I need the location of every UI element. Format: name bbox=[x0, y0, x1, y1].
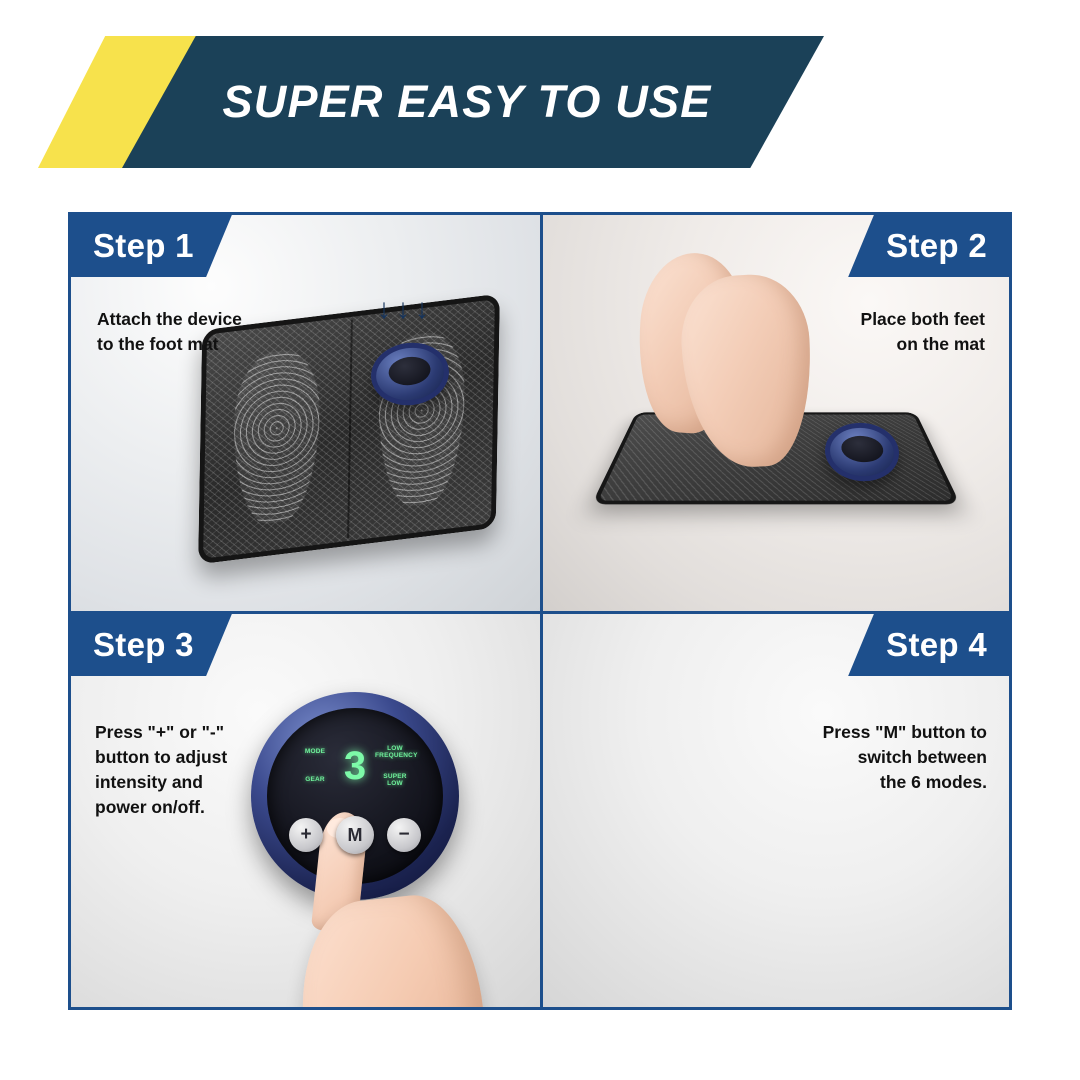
minus-button-3[interactable]: − bbox=[387, 818, 421, 852]
step-caption-2-line1: Place both feet bbox=[861, 307, 985, 332]
foot-print-left bbox=[232, 346, 320, 528]
display-value-3: 3 bbox=[335, 746, 375, 786]
display-label-low-frequency: LOW FREQUENCY bbox=[375, 745, 415, 760]
step-caption-1: Attach the device to the foot mat bbox=[97, 307, 242, 357]
display-label-gear: GEAR bbox=[295, 776, 335, 783]
display-label-super-low: SUPER LOW bbox=[375, 773, 415, 788]
step-caption-1-line2: to the foot mat bbox=[97, 332, 242, 357]
down-arrows-icon: ↓↓↓ bbox=[377, 293, 434, 325]
step-caption-4: Press "M" button to switch between the 6… bbox=[823, 720, 987, 795]
step-label-1: Step 1 bbox=[71, 215, 232, 277]
plus-button-3[interactable]: + bbox=[289, 818, 323, 852]
step-caption-3: Press "+" or "-" button to adjust intens… bbox=[95, 720, 227, 819]
step-card-1: ↓↓↓ Step 1 Attach the device to the foot… bbox=[71, 215, 540, 611]
steps-grid: ↓↓↓ Step 1 Attach the device to the foot… bbox=[68, 212, 1012, 1010]
page-title: SUPER EASY TO USE bbox=[223, 76, 712, 128]
product-infographic-page: SUPER EASY TO USE ↓↓↓ Step 1 Attach the … bbox=[0, 0, 1080, 1080]
controller-button-row-3: + M − bbox=[289, 816, 421, 854]
step-caption-1-line1: Attach the device bbox=[97, 307, 242, 332]
step-label-4: Step 4 bbox=[848, 614, 1009, 676]
step-label-3: Step 3 bbox=[71, 614, 232, 676]
controller-display-3: MODE 3 LOW FREQUENCY GEAR SUPER LOW bbox=[295, 738, 415, 794]
step-card-3: MODE 3 LOW FREQUENCY GEAR SUPER LOW + M … bbox=[71, 611, 540, 1007]
step-caption-3-line4: power on/off. bbox=[95, 795, 227, 820]
step-caption-2-line2: on the mat bbox=[861, 332, 985, 357]
foot-mat-image bbox=[198, 294, 500, 565]
step-caption-4-line3: the 6 modes. bbox=[823, 770, 987, 795]
step-caption-3-line2: button to adjust bbox=[95, 745, 227, 770]
banner-navy-panel: SUPER EASY TO USE bbox=[122, 36, 824, 168]
header-banner: SUPER EASY TO USE bbox=[0, 36, 1080, 168]
step-label-2: Step 2 bbox=[848, 215, 1009, 277]
step-caption-3-line3: intensity and bbox=[95, 770, 227, 795]
step-caption-4-line2: switch between bbox=[823, 745, 987, 770]
step-card-4: MODE 3 LOW FREQUENCY GEAR SUPER LOW + M … bbox=[540, 611, 1009, 1007]
mode-button-3[interactable]: M bbox=[336, 816, 374, 854]
display-label-mode: MODE bbox=[295, 748, 335, 755]
step-caption-4-line1: Press "M" button to bbox=[823, 720, 987, 745]
step-card-2: Step 2 Place both feet on the mat bbox=[540, 215, 1009, 611]
step-caption-3-line1: Press "+" or "-" bbox=[95, 720, 227, 745]
step-caption-2: Place both feet on the mat bbox=[861, 307, 985, 357]
